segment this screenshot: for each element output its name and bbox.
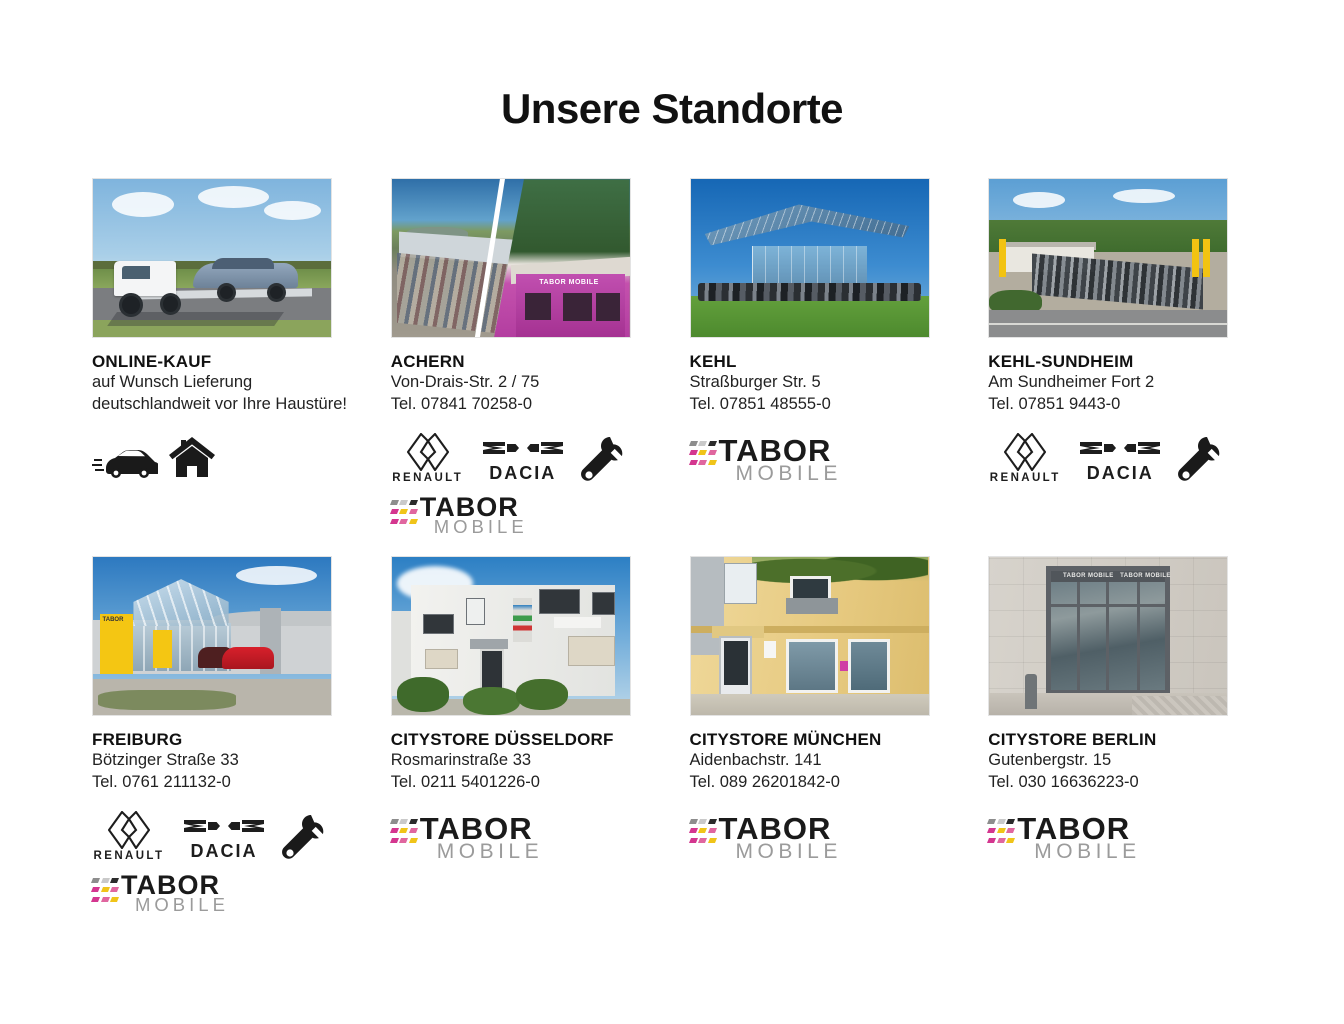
location-info-kehl: KEHL Straßburger Str. 5 Tel. 07851 48555… — [690, 338, 954, 416]
tabor-dot-grid-icon — [690, 813, 716, 845]
location-line-2: Am Sundheimer Fort 2 — [988, 372, 1252, 394]
location-photo-freiburg: TABOR — [92, 556, 332, 716]
location-info-achern: ACHERN Von-Drais-Str. 2 / 75 Tel. 07841 … — [391, 338, 655, 416]
dacia-link-icon — [1080, 431, 1160, 465]
location-line-2: Bötzinger Straße 33 — [92, 750, 356, 772]
renault-diamond-icon — [407, 433, 449, 471]
dacia-logo: DACIA — [479, 431, 567, 484]
location-info-kehl-sundheim: KEHL-SUNDHEIM Am Sundheimer Fort 2 Tel. … — [988, 338, 1252, 416]
location-photo-citystore-berlin: TABOR MOBILE TABOR MOBILE — [988, 556, 1228, 716]
dacia-link-icon — [483, 431, 563, 465]
location-badges-citystore-muenchen: TABOR MOBILE — [690, 810, 954, 862]
tabor-subwordmark: MOBILE — [420, 841, 543, 862]
tabor-mobile-logo: TABOR MOBILE — [92, 872, 229, 915]
location-line-3: Tel. 089 26201842-0 — [690, 772, 954, 794]
renault-logo: RENAULT — [92, 811, 166, 862]
dacia-logo: DACIA — [1076, 431, 1164, 484]
location-name: CITYSTORE MÜNCHEN — [690, 729, 954, 750]
location-info-online-kauf: ONLINE-KAUF auf Wunsch Lieferung deutsch… — [92, 338, 356, 416]
renault-diamond-icon — [1004, 433, 1046, 471]
renault-logo: RENAULT — [391, 433, 465, 484]
location-card-citystore-berlin[interactable]: TABOR MOBILE TABOR MOBILE CITYSTORE BERL… — [988, 556, 1252, 916]
location-badges-freiburg: RENAULT DACIA — [92, 810, 356, 862]
location-card-freiburg[interactable]: TABOR FREIBURG Bötzinger Straße 33 Tel. … — [92, 556, 356, 916]
photo-sign-freiburg: TABOR — [103, 617, 124, 623]
tabor-mobile-logo: TABOR MOBILE — [988, 813, 1140, 862]
location-photo-citystore-muenchen — [690, 556, 930, 716]
photo-sign-berlin-left: TABOR MOBILE — [1063, 573, 1114, 579]
tabor-subwordmark: MOBILE — [1017, 841, 1140, 862]
tabor-subwordmark: MOBILE — [719, 463, 842, 484]
locations-page: Unsere Standorte ONLINE-KAUF auf Wuns — [0, 0, 1344, 1024]
location-name: KEHL — [690, 351, 954, 372]
location-line-2: auf Wunsch Lieferung — [92, 372, 356, 394]
location-line-2: Straßburger Str. 5 — [690, 372, 954, 394]
renault-wordmark: RENAULT — [92, 850, 166, 862]
location-card-online-kauf[interactable]: ONLINE-KAUF auf Wunsch Lieferung deutsch… — [92, 178, 356, 538]
location-line-3: deutschlandweit vor Ihre Haustüre! — [92, 394, 356, 416]
renault-wordmark: RENAULT — [988, 472, 1062, 484]
location-badges-achern: RENAULT DACIA — [391, 432, 655, 484]
location-info-freiburg: FREIBURG Bötzinger Straße 33 Tel. 0761 2… — [92, 716, 356, 794]
location-line-2: Rosmarinstraße 33 — [391, 750, 655, 772]
location-photo-online-kauf — [92, 178, 332, 338]
wrench-icon — [1178, 436, 1222, 484]
location-line-3: Tel. 030 16636223-0 — [988, 772, 1252, 794]
location-name: CITYSTORE BERLIN — [988, 729, 1252, 750]
tabor-mobile-logo: TABOR MOBILE — [391, 494, 528, 537]
dacia-logo: DACIA — [180, 809, 268, 862]
tabor-dot-grid-icon — [690, 435, 716, 467]
location-line-3: Tel. 0761 211132-0 — [92, 772, 356, 794]
location-badges-citystore-duesseldorf: TABOR MOBILE — [391, 810, 655, 862]
location-line-3: Tel. 0211 5401226-0 — [391, 772, 655, 794]
location-card-kehl[interactable]: KEHL Straßburger Str. 5 Tel. 07851 48555… — [690, 178, 954, 538]
location-line-2: Aidenbachstr. 141 — [690, 750, 954, 772]
renault-wordmark: RENAULT — [391, 472, 465, 484]
location-name: ACHERN — [391, 351, 655, 372]
location-badges-online-kauf — [92, 432, 356, 484]
location-badges-citystore-berlin: TABOR MOBILE — [988, 810, 1252, 862]
renault-diamond-icon — [108, 811, 150, 849]
tabor-subwordmark: MOBILE — [719, 841, 842, 862]
location-line-3: Tel. 07841 70258-0 — [391, 394, 655, 416]
tabor-mobile-logo: TABOR MOBILE — [690, 813, 842, 862]
location-line-3: Tel. 07851 9443-0 — [988, 394, 1252, 416]
location-info-citystore-muenchen: CITYSTORE MÜNCHEN Aidenbachstr. 141 Tel.… — [690, 716, 954, 794]
house-icon — [168, 435, 216, 484]
tabor-dot-grid-icon — [391, 813, 417, 845]
location-photo-kehl-sundheim — [988, 178, 1228, 338]
location-photo-kehl — [690, 178, 930, 338]
location-badges-freiburg-row2: TABOR MOBILE — [92, 870, 356, 916]
location-line-2: Gutenbergstr. 15 — [988, 750, 1252, 772]
location-card-citystore-muenchen[interactable]: CITYSTORE MÜNCHEN Aidenbachstr. 141 Tel.… — [690, 556, 954, 916]
location-info-citystore-duesseldorf: CITYSTORE DÜSSELDORF Rosmarinstraße 33 T… — [391, 716, 655, 794]
wrench-icon — [581, 436, 625, 484]
dacia-wordmark: DACIA — [180, 841, 268, 862]
location-name: ONLINE-KAUF — [92, 351, 356, 372]
location-card-citystore-duesseldorf[interactable]: CITYSTORE DÜSSELDORF Rosmarinstraße 33 T… — [391, 556, 655, 916]
tabor-mobile-logo: TABOR MOBILE — [690, 435, 842, 484]
dacia-link-icon — [184, 809, 264, 843]
tabor-dot-grid-icon — [391, 494, 417, 526]
wrench-icon — [282, 814, 326, 862]
location-line-2: Von-Drais-Str. 2 / 75 — [391, 372, 655, 394]
tabor-subwordmark: MOBILE — [121, 896, 229, 915]
location-badges-kehl-sundheim: RENAULT DACIA — [988, 432, 1252, 484]
location-name: FREIBURG — [92, 729, 356, 750]
tabor-dot-grid-icon — [92, 872, 118, 904]
tabor-mobile-logo: TABOR MOBILE — [391, 813, 543, 862]
location-line-3: Tel. 07851 48555-0 — [690, 394, 954, 416]
renault-logo: RENAULT — [988, 433, 1062, 484]
locations-grid-row-1: ONLINE-KAUF auf Wunsch Lieferung deutsch… — [92, 178, 1252, 538]
photo-sign-berlin-right: TABOR MOBILE — [1120, 573, 1171, 579]
dacia-wordmark: DACIA — [1076, 463, 1164, 484]
tabor-dot-grid-icon — [988, 813, 1014, 845]
location-card-achern[interactable]: TABOR MOBILE ACHERN Von-Drais-Str. 2 / 7… — [391, 178, 655, 538]
dacia-wordmark: DACIA — [479, 463, 567, 484]
location-info-citystore-berlin: CITYSTORE BERLIN Gutenbergstr. 15 Tel. 0… — [988, 716, 1252, 794]
location-name: CITYSTORE DÜSSELDORF — [391, 729, 655, 750]
location-name: KEHL-SUNDHEIM — [988, 351, 1252, 372]
location-card-kehl-sundheim[interactable]: KEHL-SUNDHEIM Am Sundheimer Fort 2 Tel. … — [988, 178, 1252, 538]
location-photo-achern: TABOR MOBILE — [391, 178, 631, 338]
photo-sign-achern: TABOR MOBILE — [539, 279, 599, 286]
tabor-subwordmark: MOBILE — [420, 518, 528, 537]
page-title: Unsere Standorte — [0, 0, 1344, 132]
location-photo-citystore-duesseldorf — [391, 556, 631, 716]
speeding-car-icon — [92, 443, 158, 484]
location-badges-kehl: TABOR MOBILE — [690, 432, 954, 484]
locations-grid-row-2: TABOR FREIBURG Bötzinger Straße 33 Tel. … — [92, 556, 1252, 916]
location-badges-achern-row2: TABOR MOBILE — [391, 492, 655, 538]
